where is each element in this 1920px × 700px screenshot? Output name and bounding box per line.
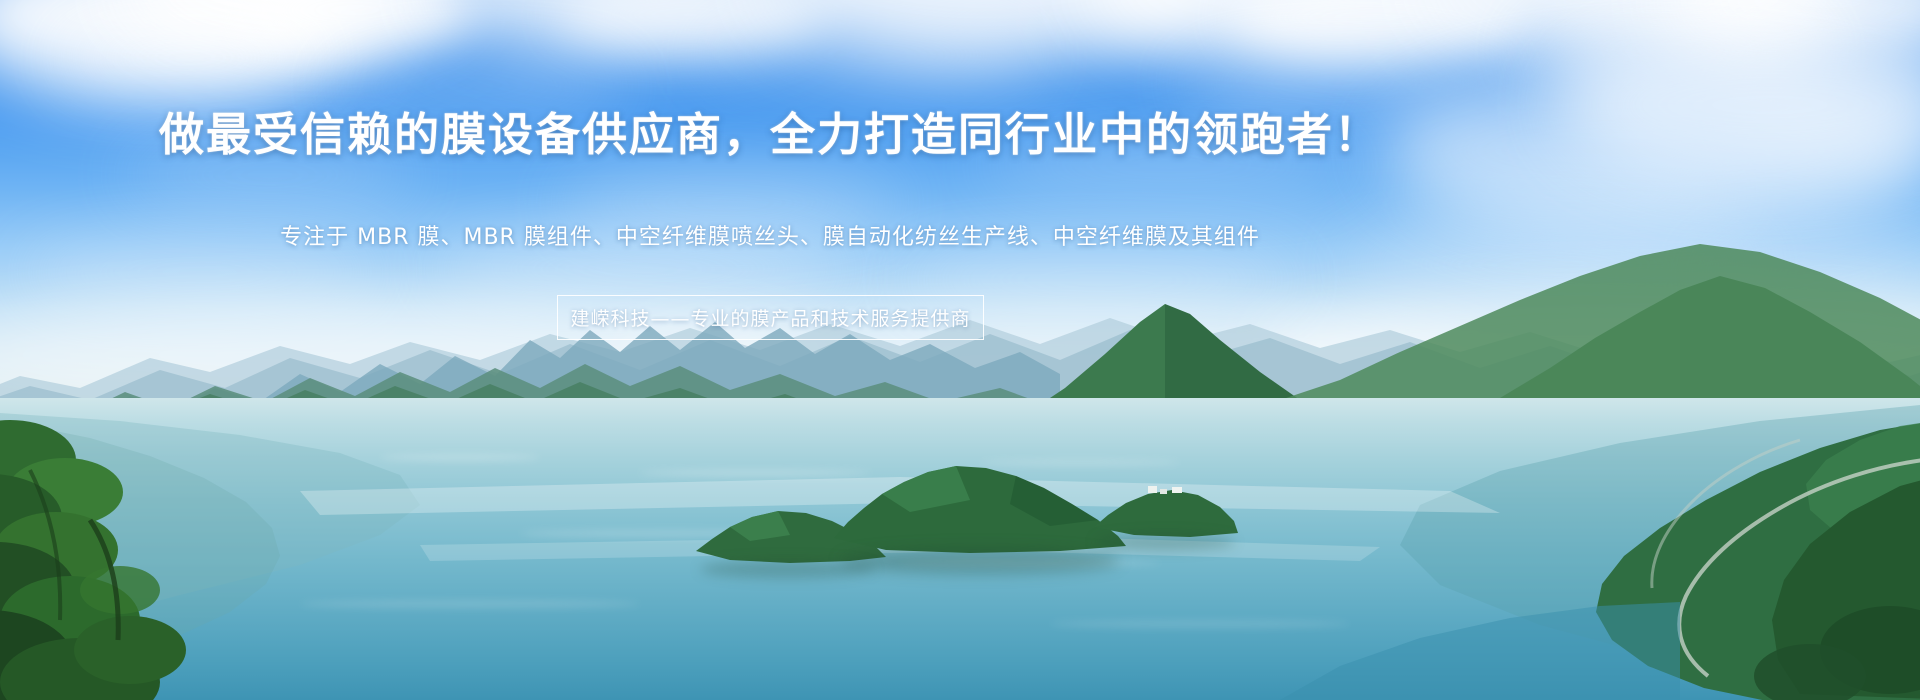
hero-banner: 做最受信赖的膜设备供应商，全力打造同行业中的领跑者！ 专注于 MBR 膜、MBR… — [0, 0, 1920, 700]
banner-subtitle: 专注于 MBR 膜、MBR 膜组件、中空纤维膜喷丝头、膜自动化纺丝生产线、中空纤… — [0, 219, 1540, 251]
hero-text-overlay: 做最受信赖的膜设备供应商，全力打造同行业中的领跑者！ 专注于 MBR 膜、MBR… — [0, 0, 1920, 700]
banner-tagline-box: 建嵘科技——专业的膜产品和技术服务提供商 — [557, 295, 984, 340]
banner-headline: 做最受信赖的膜设备供应商，全力打造同行业中的领跑者！ — [0, 98, 1540, 163]
banner-tagline: 建嵘科技——专业的膜产品和技术服务提供商 — [570, 304, 970, 331]
